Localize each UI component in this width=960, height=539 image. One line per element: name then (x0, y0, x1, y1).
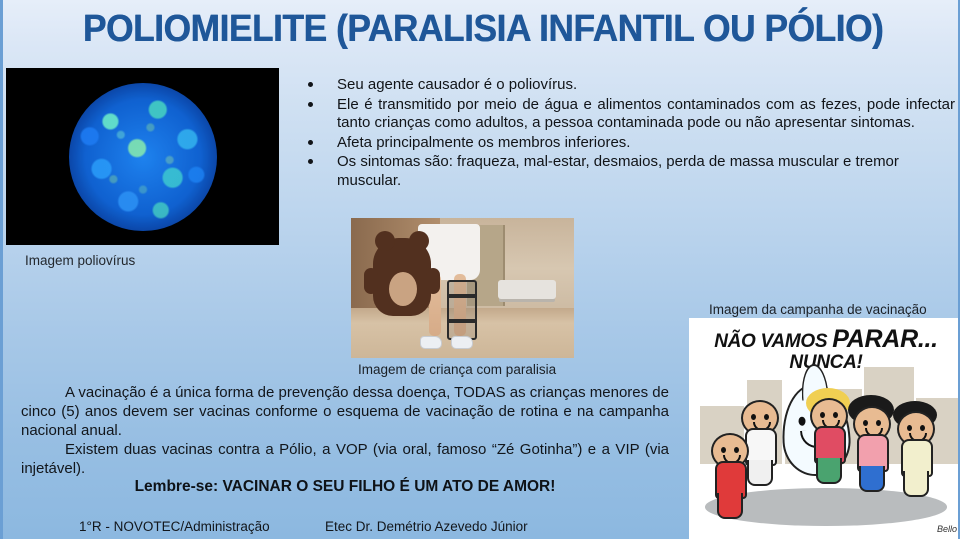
child-eye-left (721, 447, 726, 453)
left-shoe-shape (420, 336, 442, 349)
campaign-headline-line2: NUNCA! (789, 352, 862, 373)
teddy-ear-left (375, 231, 395, 251)
footer-school-label: Etec Dr. Demétrio Azevedo Júnior (325, 519, 528, 534)
list-item: Ele é transmitido por meio de água e ali… (303, 96, 955, 133)
list-item: Afeta principalmente os membros inferior… (303, 134, 955, 153)
paralysis-child-image (351, 218, 574, 358)
child-eye-left (751, 414, 756, 420)
child-eye-right (734, 447, 739, 453)
bullet-dot-icon (308, 102, 313, 107)
campaign-caption: Imagem da campanha de vacinação (709, 302, 927, 317)
list-item-label: Ele é transmitido por meio de água e ali… (337, 96, 955, 132)
teddy-ear-right (409, 231, 429, 251)
prevention-paragraph-1: A vacinação é a única forma de prevenção… (21, 383, 669, 440)
paralysis-child-caption: Imagem de criança com paralisia (358, 362, 556, 377)
list-item: Seu agente causador é o poliovírus. (303, 76, 955, 95)
campaign-headline-emphasis: PARAR... (832, 325, 937, 353)
child-legs (859, 466, 885, 492)
list-item-label: Afeta principalmente os membros inferior… (337, 134, 630, 151)
cartoon-signature: Bello (937, 524, 957, 534)
prevention-paragraph-2: Existem duas vacinas contra a Pólio, a V… (21, 440, 669, 478)
child-eye-left (907, 425, 912, 431)
poliovirus-figure (6, 68, 279, 245)
teddy-arm-left (364, 268, 378, 294)
child-legs (717, 493, 743, 519)
symptoms-bullet-list: Seu agente causador é o poliovírus. Ele … (303, 76, 955, 191)
mascot-eye-left (798, 417, 805, 426)
teddy-bear-icon (373, 238, 431, 316)
child-legs (747, 460, 773, 486)
bullet-dot-icon (308, 159, 313, 164)
child-eye-left (863, 420, 868, 426)
child-eye-right (764, 414, 769, 420)
footer-course-label: 1°R - NOVOTEC/Administração (79, 519, 270, 534)
child-eye-left (820, 412, 825, 418)
slide-footer: 1°R - NOVOTEC/Administração Etec Dr. Dem… (3, 516, 683, 539)
child-legs (903, 471, 929, 497)
right-shoe-shape (451, 336, 473, 349)
leg-brace-icon (447, 280, 477, 340)
bullet-dot-icon (308, 140, 313, 145)
child-eye-right (920, 425, 925, 431)
poliovirus-image (6, 68, 279, 245)
campaign-figure: NÃO VAMOS PARAR... NUNCA! (689, 318, 960, 539)
child-eye-right (876, 420, 881, 426)
campaign-headline-line1: NÃO VAMOS (714, 331, 827, 352)
list-item-label: Os sintomas são: fraqueza, mal-estar, de… (337, 153, 899, 189)
poliovirus-caption: Imagem poliovírus (25, 253, 135, 268)
teddy-arm-right (426, 268, 440, 294)
paralysis-child-figure (351, 218, 574, 358)
bullet-dot-icon (308, 82, 313, 87)
teddy-belly (389, 272, 417, 306)
slide-canvas: POLIOMIELITE (PARALISIA INFANTIL OU PÓLI… (0, 0, 960, 539)
sink-shape (498, 280, 556, 300)
list-item: Os sintomas são: fraqueza, mal-estar, de… (303, 153, 955, 190)
list-item-label: Seu agente causador é o poliovírus. (337, 76, 577, 93)
virus-capsid-icon (69, 83, 217, 231)
prevention-text-block: A vacinação é a única forma de prevenção… (21, 383, 669, 478)
child-legs (816, 458, 842, 484)
child-eye-right (833, 412, 838, 418)
campaign-headline: NÃO VAMOS PARAR... NUNCA! (689, 329, 960, 373)
remember-callout: Lembre-se: VACINAR O SEU FILHO É UM ATO … (21, 478, 669, 496)
page-title: POLIOMIELITE (PARALISIA INFANTIL OU PÓLI… (37, 6, 930, 52)
